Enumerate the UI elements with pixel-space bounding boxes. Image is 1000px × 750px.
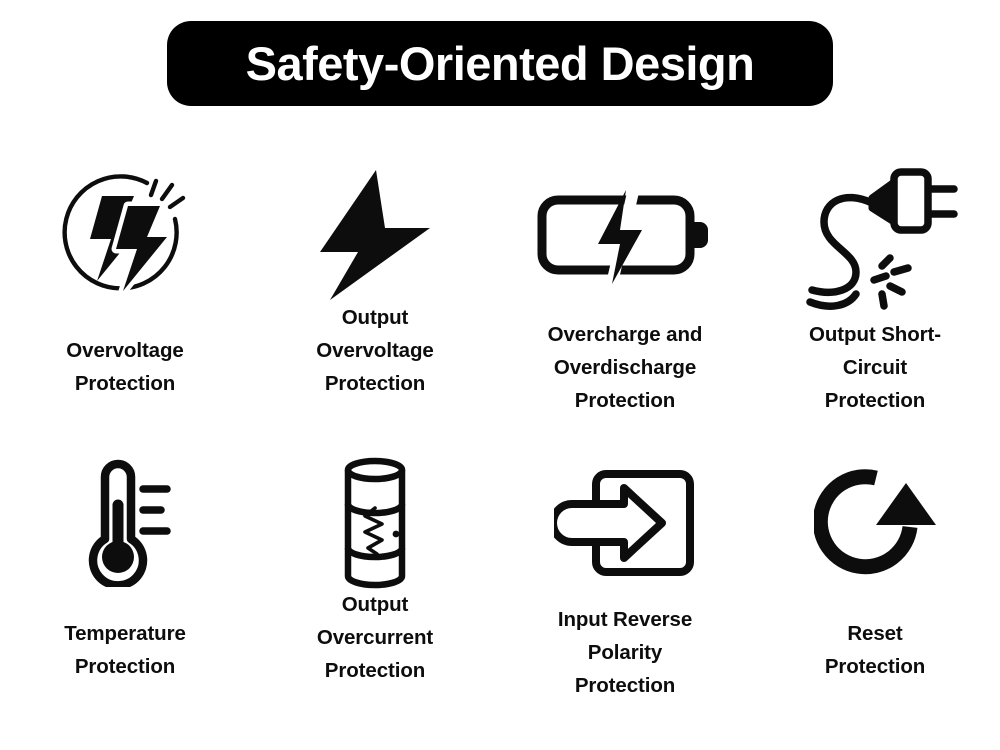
feature-label-line-1: Overvoltage: [66, 334, 183, 367]
feature-cell-overcharge-overdischarge-protection: Overcharge and Overdischarge Protection: [500, 160, 750, 450]
feature-cell-overvoltage-protection: Overvoltage Protection: [0, 160, 250, 450]
feature-label-line-2: Overvoltage: [316, 334, 433, 367]
glass-fuse-icon: [332, 450, 418, 595]
reset-circular-arrow-icon: [814, 450, 936, 595]
feature-label-line-3: Protection: [809, 384, 941, 417]
feature-label: Output Overcurrent Protection: [317, 588, 433, 688]
feature-label: Output Short- Circuit Protection: [809, 318, 941, 418]
feature-cell-output-overvoltage-protection: Output Overvoltage Protection: [250, 160, 500, 450]
feature-label: Output Overvoltage Protection: [316, 301, 433, 401]
feature-label-line-3: Protection: [317, 654, 433, 687]
arrow-into-box-icon: [554, 450, 696, 595]
lightning-bolt-icon: [312, 160, 438, 310]
feature-label-line-1: Overcharge and: [548, 318, 703, 351]
feature-grid: Overvoltage Protection Output Overvoltag…: [0, 160, 1000, 740]
feature-label-line-2: Overdischarge: [548, 351, 703, 384]
battery-charge-icon: [536, 160, 714, 310]
feature-label-line-3: Protection: [558, 669, 692, 702]
title-banner: Safety-Oriented Design: [167, 21, 833, 106]
feature-label: Temperature Protection: [64, 617, 186, 683]
feature-label: Input Reverse Polarity Protection: [558, 603, 692, 703]
feature-label-line-2: Protection: [64, 650, 186, 683]
feature-cell-output-overcurrent-protection: Output Overcurrent Protection: [250, 450, 500, 740]
feature-label-line-1: Input Reverse: [558, 603, 692, 636]
thermometer-icon: [73, 450, 177, 595]
feature-label-line-2: Overcurrent: [317, 621, 433, 654]
title-banner-wrapper: Safety-Oriented Design: [0, 21, 1000, 106]
feature-cell-output-short-circuit-protection: Output Short- Circuit Protection: [750, 160, 1000, 450]
feature-cell-reset-protection: Reset Protection: [750, 450, 1000, 740]
page-title: Safety-Oriented Design: [246, 40, 755, 87]
overvoltage-circle-bolts-icon: [59, 160, 191, 310]
feature-label-line-1: Reset: [825, 617, 925, 650]
feature-label-line-2: Protection: [66, 367, 183, 400]
feature-label-line-1: Output: [317, 588, 433, 621]
feature-label-line-1: Output Short-: [809, 318, 941, 351]
feature-label-line-3: Protection: [548, 384, 703, 417]
feature-label-line-3: Protection: [316, 367, 433, 400]
feature-label-line-2: Protection: [825, 650, 925, 683]
feature-label: Overcharge and Overdischarge Protection: [548, 318, 703, 418]
feature-label-line-1: Output: [316, 301, 433, 334]
feature-label-line-1: Temperature: [64, 617, 186, 650]
feature-label-line-2: Circuit: [809, 351, 941, 384]
frayed-plug-icon: [790, 160, 960, 310]
feature-label-line-2: Polarity: [558, 636, 692, 669]
feature-cell-input-reverse-polarity-protection: Input Reverse Polarity Protection: [500, 450, 750, 740]
feature-label: Overvoltage Protection: [66, 334, 183, 400]
feature-cell-temperature-protection: Temperature Protection: [0, 450, 250, 740]
feature-label: Reset Protection: [825, 617, 925, 683]
